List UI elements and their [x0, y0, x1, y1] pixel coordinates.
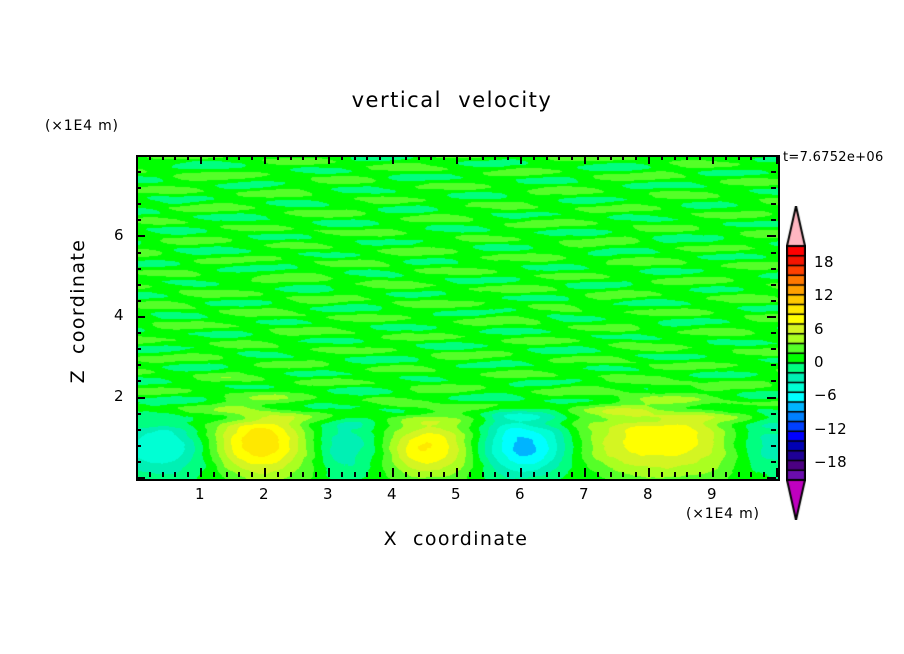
x-minor-tick [277, 472, 279, 477]
y-minor-tick-right [771, 348, 776, 350]
y-minor-tick-right [771, 219, 776, 221]
y-minor-tick-right [771, 429, 776, 431]
colorbar-tick-label: 12 [814, 286, 834, 304]
y-minor-tick-right [771, 364, 776, 366]
x-tick-label: 3 [313, 485, 343, 503]
colorbar-tick-label: −12 [814, 420, 847, 438]
x-minor-tick-top [546, 155, 548, 160]
y-minor-tick [136, 187, 141, 189]
x-minor-tick [610, 472, 612, 477]
x-major-tick [136, 468, 138, 477]
x-minor-tick-top [149, 155, 151, 160]
x-minor-tick-top [366, 155, 368, 160]
y-minor-tick [136, 252, 141, 254]
x-minor-tick [238, 472, 240, 477]
y-minor-tick-right [771, 380, 776, 382]
x-minor-tick [149, 472, 151, 477]
x-minor-tick-top [341, 155, 343, 160]
x-major-tick-top [200, 155, 202, 164]
x-tick-label: 4 [377, 485, 407, 503]
y-minor-tick-right [771, 461, 776, 463]
y-minor-tick-right [771, 413, 776, 415]
x-minor-tick-top [725, 155, 727, 160]
x-minor-tick-top [469, 155, 471, 160]
x-minor-tick [546, 472, 548, 477]
x-major-tick [328, 468, 330, 477]
x-minor-tick-top [238, 155, 240, 160]
x-tick-label: 7 [569, 485, 599, 503]
x-minor-tick [469, 472, 471, 477]
x-minor-tick [635, 472, 637, 477]
x-major-tick-top [264, 155, 266, 164]
y-minor-tick [136, 348, 141, 350]
x-major-tick-top [392, 155, 394, 164]
x-minor-tick-top [533, 155, 535, 160]
colorbar [786, 206, 806, 520]
x-minor-tick [430, 472, 432, 477]
x-minor-tick [482, 472, 484, 477]
x-minor-tick [341, 472, 343, 477]
x-minor-tick-top [277, 155, 279, 160]
x-minor-tick-top [507, 155, 509, 160]
x-minor-tick-top [482, 155, 484, 160]
y-minor-tick-right [771, 203, 776, 205]
x-minor-tick-top [443, 155, 445, 160]
x-major-tick [712, 468, 714, 477]
x-minor-tick [686, 472, 688, 477]
x-minor-tick-top [610, 155, 612, 160]
x-minor-tick [379, 472, 381, 477]
vertical-velocity-contour-canvas [138, 157, 778, 479]
contour-plot-panel [136, 155, 780, 481]
x-minor-tick [661, 472, 663, 477]
x-minor-tick [302, 472, 304, 477]
x-major-tick [520, 468, 522, 477]
x-tick-label: 1 [185, 485, 215, 503]
y-minor-tick [136, 203, 141, 205]
y-minor-tick-right [771, 445, 776, 447]
y-minor-tick [136, 332, 141, 334]
y-minor-tick [136, 268, 141, 270]
x-minor-tick-top [174, 155, 176, 160]
x-minor-tick-top [558, 155, 560, 160]
x-minor-tick [622, 472, 624, 477]
colorbar-tick-label: 18 [814, 253, 834, 271]
x-minor-tick [226, 472, 228, 477]
x-minor-tick [571, 472, 573, 477]
y-minor-tick-right [771, 187, 776, 189]
y-axis-title: Z coordinate [67, 211, 89, 411]
x-minor-tick-top [290, 155, 292, 160]
x-minor-tick-top [763, 155, 765, 160]
x-minor-tick [674, 472, 676, 477]
x-major-tick-top [712, 155, 714, 164]
colorbar-canvas [786, 206, 806, 520]
y-minor-tick-right [771, 332, 776, 334]
x-major-tick [264, 468, 266, 477]
y-minor-tick-right [771, 300, 776, 302]
x-major-tick-top [776, 155, 778, 164]
x-axis-title: X coordinate [136, 528, 776, 550]
x-minor-tick-top [251, 155, 253, 160]
time-annotation: t=7.6752e+06 [783, 150, 884, 165]
y-minor-tick-right [771, 284, 776, 286]
x-minor-tick-top [750, 155, 752, 160]
y-minor-tick [136, 300, 141, 302]
x-minor-tick [162, 472, 164, 477]
y-minor-tick-right [771, 252, 776, 254]
x-major-tick-top [648, 155, 650, 164]
x-minor-tick [738, 472, 740, 477]
y-tick-label: 4 [94, 306, 124, 324]
x-minor-tick-top [405, 155, 407, 160]
x-minor-tick-top [674, 155, 676, 160]
y-minor-tick [136, 171, 141, 173]
x-minor-tick-top [379, 155, 381, 160]
y-major-tick [136, 397, 145, 399]
x-minor-tick [750, 472, 752, 477]
y-minor-tick [136, 429, 141, 431]
x-tick-label: 5 [441, 485, 471, 503]
x-minor-tick [699, 472, 701, 477]
x-minor-tick [315, 472, 317, 477]
x-minor-tick-top [430, 155, 432, 160]
x-major-tick-top [520, 155, 522, 164]
x-minor-tick [290, 472, 292, 477]
x-major-tick [392, 468, 394, 477]
x-minor-tick-top [597, 155, 599, 160]
x-minor-tick-top [494, 155, 496, 160]
x-major-tick [456, 468, 458, 477]
y-minor-tick [136, 461, 141, 463]
y-major-tick-right [767, 316, 776, 318]
x-major-tick [200, 468, 202, 477]
x-minor-tick-top [635, 155, 637, 160]
x-minor-tick-top [213, 155, 215, 160]
page-title: vertical velocity [0, 88, 904, 112]
y-major-tick [136, 477, 145, 479]
x-minor-tick-top [661, 155, 663, 160]
x-minor-tick-top [354, 155, 356, 160]
x-minor-tick-top [187, 155, 189, 160]
x-minor-tick-top [226, 155, 228, 160]
x-minor-tick [251, 472, 253, 477]
y-major-tick-right [767, 155, 776, 157]
x-major-tick-top [456, 155, 458, 164]
colorbar-tick-label: −18 [814, 453, 847, 471]
x-minor-tick-top [686, 155, 688, 160]
x-tick-label: 9 [697, 485, 727, 503]
x-minor-tick-top [418, 155, 420, 160]
colorbar-tick-label: −6 [814, 386, 837, 404]
x-minor-tick-top [302, 155, 304, 160]
x-minor-tick [187, 472, 189, 477]
x-minor-tick [443, 472, 445, 477]
y-minor-tick [136, 413, 141, 415]
x-minor-tick [405, 472, 407, 477]
x-minor-tick-top [622, 155, 624, 160]
y-major-tick [136, 235, 145, 237]
x-major-tick-top [584, 155, 586, 164]
y-major-tick [136, 316, 145, 318]
x-minor-tick-top [162, 155, 164, 160]
y-minor-tick [136, 380, 141, 382]
figure-root: vertical velocity (×1E4 m) t=7.6752e+06 … [0, 0, 904, 654]
x-minor-tick [213, 472, 215, 477]
x-tick-label: 2 [249, 485, 279, 503]
y-axis-units-label: (×1E4 m) [45, 118, 119, 134]
x-axis-units-label: (×1E4 m) [686, 506, 760, 522]
x-minor-tick [533, 472, 535, 477]
x-minor-tick [418, 472, 420, 477]
y-tick-label: 2 [94, 387, 124, 405]
colorbar-tick-label: 6 [814, 320, 824, 338]
x-minor-tick [763, 472, 765, 477]
x-major-tick [648, 468, 650, 477]
y-minor-tick [136, 364, 141, 366]
y-major-tick-right [767, 235, 776, 237]
x-minor-tick [174, 472, 176, 477]
x-minor-tick [507, 472, 509, 477]
y-minor-tick [136, 284, 141, 286]
x-minor-tick-top [738, 155, 740, 160]
x-major-tick [584, 468, 586, 477]
y-minor-tick [136, 445, 141, 447]
x-tick-label: 6 [505, 485, 535, 503]
x-minor-tick [366, 472, 368, 477]
y-major-tick-right [767, 477, 776, 479]
x-major-tick-top [328, 155, 330, 164]
x-minor-tick [354, 472, 356, 477]
x-minor-tick-top [315, 155, 317, 160]
x-minor-tick [597, 472, 599, 477]
x-minor-tick [558, 472, 560, 477]
y-minor-tick-right [771, 268, 776, 270]
y-major-tick [136, 155, 145, 157]
x-tick-label: 8 [633, 485, 663, 503]
x-minor-tick-top [699, 155, 701, 160]
colorbar-tick-label: 0 [814, 353, 824, 371]
y-tick-label: 6 [94, 226, 124, 244]
y-minor-tick [136, 219, 141, 221]
y-major-tick-right [767, 397, 776, 399]
x-minor-tick-top [571, 155, 573, 160]
x-minor-tick [494, 472, 496, 477]
x-minor-tick [725, 472, 727, 477]
x-major-tick [776, 468, 778, 477]
y-minor-tick-right [771, 171, 776, 173]
